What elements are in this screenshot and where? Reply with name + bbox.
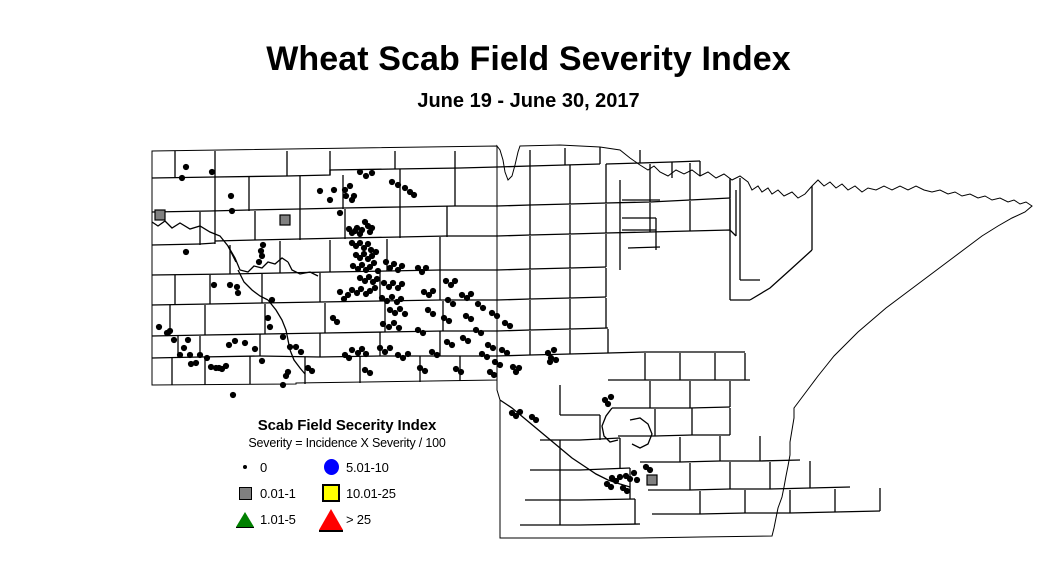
yellow-square-icon [320, 482, 342, 504]
states-map-svg [0, 0, 1057, 562]
map-point-zero [402, 311, 408, 317]
green-triangle-icon [234, 508, 256, 530]
legend: Scab Field Secerity Index Severity = Inc… [222, 417, 472, 530]
map-point-zero [265, 315, 271, 321]
map-point-zero [390, 280, 396, 286]
map-figure: Wheat Scab Field Severity Index June 19 … [0, 0, 1057, 562]
map-point-zero [423, 265, 429, 271]
map-point-zero [179, 175, 185, 181]
legend-label-0-1: 0.01-1 [256, 486, 296, 501]
map-point-zero [631, 470, 637, 476]
map-point-zero [359, 227, 365, 233]
legend-grid: 0 5.01-10 0.01-1 10.01-25 [222, 456, 472, 530]
map-point-zero [183, 249, 189, 255]
map-point-zero [181, 345, 187, 351]
map-point-zero [446, 318, 452, 324]
map-point-zero [465, 338, 471, 344]
map-point-zero [380, 321, 386, 327]
legend-item-5-10[interactable]: 5.01-10 [320, 456, 472, 478]
map-point-zero [647, 467, 653, 473]
map-point-zero [345, 292, 351, 298]
map-point-zero [298, 349, 304, 355]
map-point-zero [475, 301, 481, 307]
map-point-zero [443, 278, 449, 284]
map-point-zero [171, 337, 177, 343]
map-point-zero [608, 394, 614, 400]
legend-item-0-1[interactable]: 0.01-1 [234, 482, 320, 504]
map-point-zero [430, 311, 436, 317]
map-point-zero [458, 369, 464, 375]
map-point-zero [309, 368, 315, 374]
map-point-zero [285, 369, 291, 375]
legend-item-over-25[interactable]: > 25 [320, 508, 472, 530]
map-point-zero [235, 290, 241, 296]
map-point-zero [342, 187, 348, 193]
map-point-zero [374, 276, 380, 282]
map-point-zero [397, 306, 403, 312]
map-point-zero [411, 192, 417, 198]
map-point-zero [349, 347, 355, 353]
map-point-zero [387, 345, 393, 351]
map-point-zero [347, 183, 353, 189]
map-point-zero [228, 193, 234, 199]
map-point-low-severity [647, 475, 657, 485]
map-point-zero [260, 242, 266, 248]
map-point-zero [553, 357, 559, 363]
map-point-zero [183, 164, 189, 170]
map-point-zero [343, 193, 349, 199]
map-point-zero [358, 286, 364, 292]
map-point-zero [187, 352, 193, 358]
map-point-zero [373, 249, 379, 255]
map-point-zero [223, 363, 229, 369]
map-point-zero [392, 310, 398, 316]
map-point-zero [359, 346, 365, 352]
map-point-zero [381, 280, 387, 286]
map-point-zero [363, 173, 369, 179]
legend-title: Scab Field Secerity Index [222, 417, 472, 434]
map-point-zero [516, 365, 522, 371]
map-point-zero [389, 179, 395, 185]
map-point-zero [386, 324, 392, 330]
map-point-zero [156, 324, 162, 330]
map-point-zero [627, 476, 633, 482]
map-point-low-severity [155, 210, 165, 220]
map-point-zero [450, 301, 456, 307]
map-point-zero [197, 352, 203, 358]
map-point-zero [634, 477, 640, 483]
map-point-zero [468, 291, 474, 297]
map-point-zero [484, 354, 490, 360]
map-point-zero [445, 297, 451, 303]
map-point-zero [287, 344, 293, 350]
map-point-zero [351, 193, 357, 199]
map-point-zero [185, 337, 191, 343]
map-point-zero [259, 358, 265, 364]
map-point-zero [422, 368, 428, 374]
map-point-zero [226, 342, 232, 348]
blue-circle-icon [320, 456, 342, 478]
map-point-zero [177, 352, 183, 358]
map-point-zero [230, 392, 236, 398]
legend-label-zero: 0 [256, 460, 267, 475]
map-point-zero [234, 284, 240, 290]
gray-square-icon [234, 482, 256, 504]
map-point-zero [256, 259, 262, 265]
minnesota-counties [497, 145, 1032, 538]
map-point-zero [389, 294, 395, 300]
map-point-zero [229, 208, 235, 214]
map-point-zero [507, 323, 513, 329]
map-point-zero [193, 360, 199, 366]
map-point-zero [551, 347, 557, 353]
map-point-zero [434, 352, 440, 358]
map-point-zero [346, 355, 352, 361]
small-black-dot-icon [234, 456, 256, 478]
map-point-zero [425, 307, 431, 313]
map-point-zero [504, 350, 510, 356]
map-point-zero [478, 330, 484, 336]
map-point-zero [605, 401, 611, 407]
map-point-zero [420, 330, 426, 336]
map-point-zero [365, 241, 371, 247]
map-point-zero [359, 262, 365, 268]
map-point-zero [167, 328, 173, 334]
map-point-zero [267, 324, 273, 330]
map-point-zero [624, 488, 630, 494]
map-point-zero [367, 370, 373, 376]
map-point-zero [396, 325, 402, 331]
map-point-zero [430, 288, 436, 294]
map-point-zero [391, 261, 397, 267]
map-point-zero [400, 355, 406, 361]
map-point-zero [357, 169, 363, 175]
legend-label-10-25: 10.01-25 [342, 486, 396, 501]
map-point-zero [405, 351, 411, 357]
map-point-zero [384, 298, 390, 304]
map-point-zero [452, 278, 458, 284]
legend-item-1-5[interactable]: 1.01-5 [234, 508, 320, 530]
map-point-zero [269, 297, 275, 303]
legend-item-10-25[interactable]: 10.01-25 [320, 482, 472, 504]
map-point-zero [399, 281, 405, 287]
map-point-zero [211, 282, 217, 288]
map-point-zero [468, 316, 474, 322]
map-point-zero [293, 344, 299, 350]
map-point-zero [227, 282, 233, 288]
map-point-zero [369, 225, 375, 231]
map-point-zero [617, 474, 623, 480]
legend-formula: Severity = Incidence X Severity / 100 [222, 436, 472, 450]
map-point-zero [371, 260, 377, 266]
map-point-zero [204, 355, 210, 361]
map-point-zero [331, 187, 337, 193]
map-point-zero [377, 345, 383, 351]
map-point-zero [280, 334, 286, 340]
map-canvas [0, 0, 1057, 562]
map-point-zero [361, 251, 367, 257]
map-point-zero [317, 188, 323, 194]
map-point-zero [209, 169, 215, 175]
map-point-low-severity [280, 215, 290, 225]
map-point-zero [366, 274, 372, 280]
map-point-zero [327, 197, 333, 203]
map-point-zero [490, 345, 496, 351]
map-point-zero [533, 417, 539, 423]
map-point-zero [494, 313, 500, 319]
legend-label-over-25: > 25 [342, 512, 371, 527]
map-point-zero [375, 268, 381, 274]
map-point-zero [395, 182, 401, 188]
map-point-zero [258, 248, 264, 254]
map-point-zero [391, 320, 397, 326]
legend-label-1-5: 1.01-5 [256, 512, 296, 527]
map-point-zero [242, 340, 248, 346]
map-point-zero [480, 305, 486, 311]
map-point-zero [280, 382, 286, 388]
map-point-zero [547, 359, 553, 365]
map-point-zero [337, 210, 343, 216]
map-point-zero [449, 342, 455, 348]
map-point-zero [334, 319, 340, 325]
map-point-zero [372, 285, 378, 291]
map-point-zero [608, 484, 614, 490]
map-point-zero [382, 349, 388, 355]
map-point-zero [363, 351, 369, 357]
map-point-zero [369, 170, 375, 176]
legend-item-zero[interactable]: 0 [234, 456, 320, 478]
map-point-zero [497, 362, 503, 368]
map-point-zero [337, 289, 343, 295]
map-point-zero [398, 296, 404, 302]
map-point-zero [252, 346, 258, 352]
map-point-zero [383, 259, 389, 265]
north-dakota-counties [152, 146, 497, 385]
map-point-zero [357, 240, 363, 246]
map-point-zero [402, 185, 408, 191]
map-point-zero [399, 263, 405, 269]
map-point-zero [232, 338, 238, 344]
map-point-zero [517, 409, 523, 415]
legend-label-5-10: 5.01-10 [342, 460, 389, 475]
map-point-zero [491, 372, 497, 378]
red-triangle-icon [320, 508, 342, 530]
